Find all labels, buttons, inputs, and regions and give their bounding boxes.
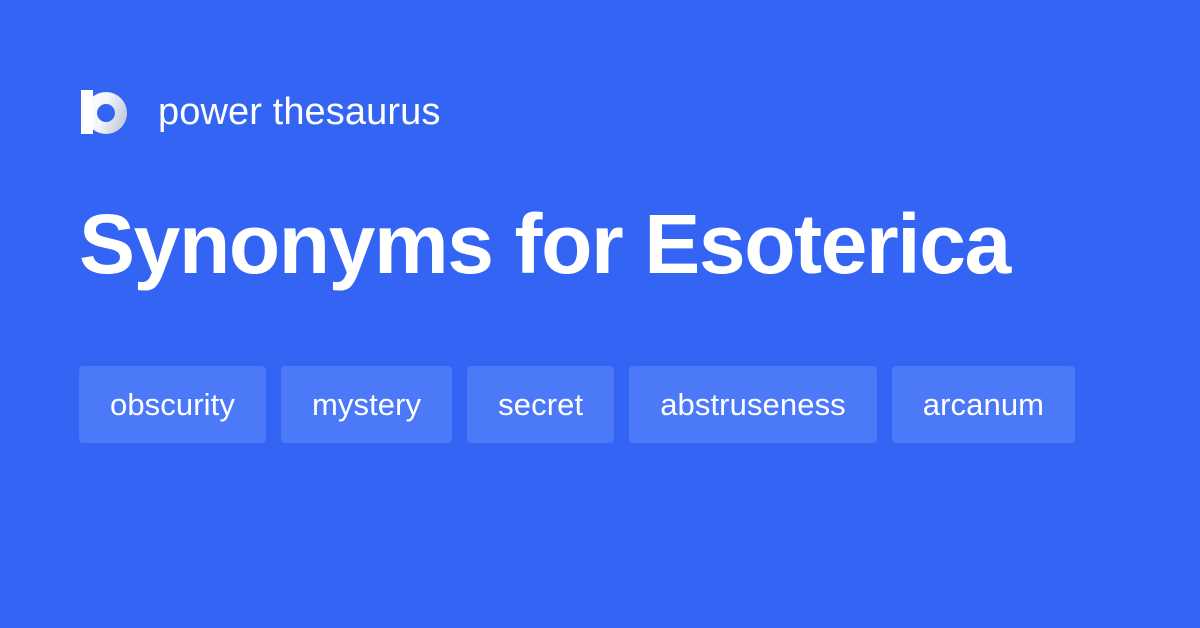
synonym-chip[interactable]: obscurity [79, 366, 266, 443]
synonyms-card: power thesaurus Synonyms for Esoterica o… [0, 0, 1200, 628]
synonym-chip[interactable]: secret [467, 366, 614, 443]
brand-name: power thesaurus [158, 93, 440, 131]
synonym-chip[interactable]: abstruseness [629, 366, 877, 443]
power-thesaurus-logo-icon [79, 86, 131, 138]
synonym-chip-list: obscurity mystery secret abstruseness ar… [79, 366, 1129, 443]
brand-lockup[interactable]: power thesaurus [79, 84, 440, 140]
synonym-chip-label: arcanum [923, 389, 1044, 420]
synonym-chip-label: mystery [312, 389, 421, 420]
synonym-chip-label: obscurity [110, 389, 235, 420]
synonym-chip-label: abstruseness [660, 389, 846, 420]
synonym-chip-label: secret [498, 389, 583, 420]
page-title: Synonyms for Esoterica [79, 196, 1010, 292]
synonym-chip[interactable]: mystery [281, 366, 452, 443]
synonym-chip[interactable]: arcanum [892, 366, 1075, 443]
